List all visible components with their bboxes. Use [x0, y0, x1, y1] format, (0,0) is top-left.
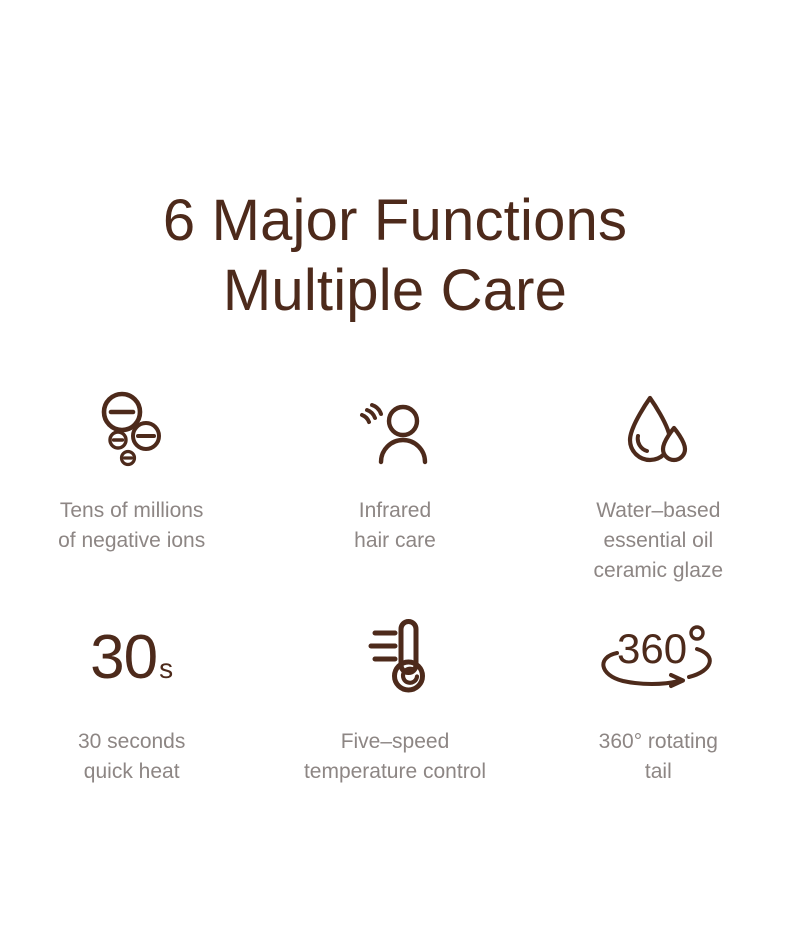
- feature-item-infrared: Infrared hair care: [263, 380, 526, 610]
- thirty-seconds-icon: 30 s: [90, 610, 173, 705]
- feature-infographic: 6 Major Functions Multiple Care: [0, 0, 790, 937]
- page-title: 6 Major Functions Multiple Care: [0, 186, 790, 326]
- feature-grid: Tens of millions of negative ions I: [0, 380, 790, 800]
- feature-item-temperature-control: Five–speed temperature control: [263, 610, 526, 800]
- feature-caption: Tens of millions of negative ions: [58, 496, 205, 556]
- thirty-seconds-unit: s: [159, 655, 173, 683]
- negative-ions-icon: [90, 380, 174, 480]
- feature-row-bottom: 30 s 30 seconds quick heat: [0, 610, 790, 800]
- feature-caption: Five–speed temperature control: [304, 727, 486, 787]
- svg-text:360: 360: [617, 625, 687, 672]
- feature-caption: 30 seconds quick heat: [78, 727, 185, 787]
- feature-item-negative-ions: Tens of millions of negative ions: [0, 380, 263, 610]
- feature-caption: Water–based essential oil ceramic glaze: [594, 496, 724, 586]
- page-title-line-1: 6 Major Functions: [0, 186, 790, 256]
- feature-item-quick-heat: 30 s 30 seconds quick heat: [0, 610, 263, 800]
- feature-caption: 360° rotating tail: [599, 727, 718, 787]
- page-title-line-2: Multiple Care: [0, 256, 790, 326]
- water-drop-icon: [616, 380, 700, 480]
- feature-item-water-based-oil: Water–based essential oil ceramic glaze: [527, 380, 790, 610]
- feature-item-rotating-tail: 360 360° rotating tail: [527, 610, 790, 800]
- thirty-seconds-value: 30: [90, 627, 157, 689]
- rotation-360-icon: 360: [593, 610, 723, 705]
- infrared-person-icon: [353, 380, 437, 480]
- feature-caption: Infrared hair care: [354, 496, 436, 556]
- thermometer-icon: [357, 610, 433, 705]
- feature-row-top: Tens of millions of negative ions I: [0, 380, 790, 610]
